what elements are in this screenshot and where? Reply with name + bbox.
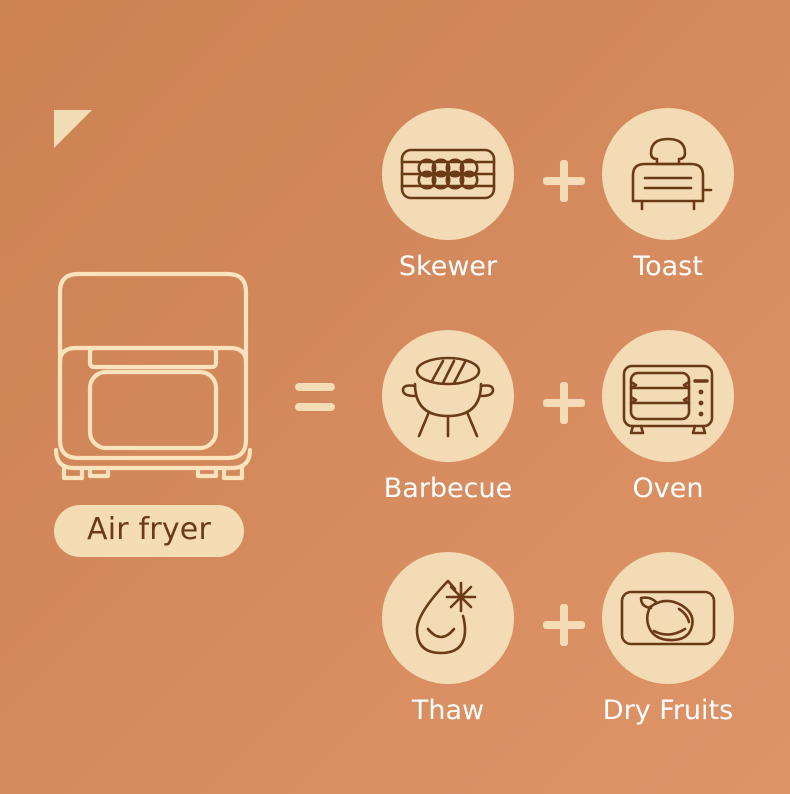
air-fryer-product: Air fryer xyxy=(38,262,268,562)
skewer-label: Skewer xyxy=(374,252,522,282)
oven-icon-circle xyxy=(602,330,734,462)
plus-sign-row-3 xyxy=(543,604,585,646)
function-item-thaw[interactable]: Thaw xyxy=(374,552,522,726)
plus-sign-row-2 xyxy=(543,382,585,424)
barbecue-label: Barbecue xyxy=(374,474,522,504)
plus-bar-vertical xyxy=(560,382,568,424)
thaw-icon-circle xyxy=(382,552,514,684)
dry-fruits-icon-circle xyxy=(602,552,734,684)
plus-bar-vertical xyxy=(560,604,568,646)
toast-label: Toast xyxy=(594,252,742,282)
function-item-skewer[interactable]: Skewer xyxy=(374,108,522,282)
plus-sign-row-1 xyxy=(543,160,585,202)
dry-fruits-label: Dry Fruits xyxy=(594,696,742,726)
function-row-1: Skewer xyxy=(374,108,774,330)
skewer-icon-circle xyxy=(382,108,514,240)
decorative-triangle xyxy=(54,110,92,148)
equals-sign xyxy=(295,383,335,413)
air-fryer-label-pill: Air fryer xyxy=(54,505,244,557)
function-item-dry-fruits[interactable]: Dry Fruits xyxy=(594,552,742,726)
thaw-label: Thaw xyxy=(374,696,522,726)
air-fryer-icon xyxy=(38,262,268,487)
equals-bar-top xyxy=(295,383,335,391)
function-row-3: Thaw xyxy=(374,552,774,774)
function-grid: Skewer xyxy=(374,108,774,774)
toaster-icon-circle xyxy=(602,108,734,240)
function-row-2: Barbecue xyxy=(374,330,774,552)
function-item-toast[interactable]: Toast xyxy=(594,108,742,282)
equals-bar-bottom xyxy=(295,403,335,411)
infographic-poster: Air fryer xyxy=(0,0,790,794)
air-fryer-label: Air fryer xyxy=(87,515,211,547)
bbq-icon-circle xyxy=(382,330,514,462)
plus-bar-vertical xyxy=(560,160,568,202)
oven-label: Oven xyxy=(594,474,742,504)
function-item-barbecue[interactable]: Barbecue xyxy=(374,330,522,504)
function-item-oven[interactable]: Oven xyxy=(594,330,742,504)
